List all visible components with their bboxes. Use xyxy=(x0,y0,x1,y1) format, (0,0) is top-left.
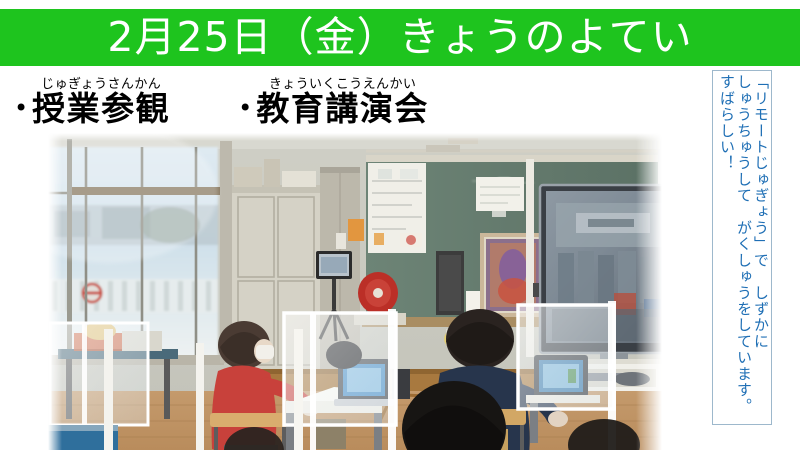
comment-box: 「リモートじゅぎょう」で しずかに しゅうちゅうして がくしゅうをしています。 … xyxy=(712,70,772,425)
list-item-jugyo-sankan: • じゅぎょうさんかん 授業参観 xyxy=(14,78,170,126)
comment-line-1: 「リモートじゅぎょう」で しずかに xyxy=(752,74,769,349)
classroom-photo-frame xyxy=(48,133,662,450)
classroom-photo xyxy=(48,133,662,450)
schedule-bullet-list: • じゅぎょうさんかん 授業参観 • きょういくこうえんかい 教育講演会 xyxy=(14,71,674,126)
title-banner: 2月25日（金）きょうのよてい xyxy=(0,9,800,66)
bullet-label-kyoiku-koenkai: 教育講演会 xyxy=(256,91,429,126)
ruby-group: じゅぎょうさんかん 授業参観 xyxy=(32,78,170,126)
bullet-dot-icon: • xyxy=(14,96,28,120)
comment-line-2: しゅうちゅうして がくしゅうをしています。 xyxy=(735,74,752,414)
bullet-dot-icon: • xyxy=(238,96,252,120)
bullet-label-jugyo-sankan: 授業参観 xyxy=(32,91,170,126)
slide-canvas: 2月25日（金）きょうのよてい • じゅぎょうさんかん 授業参観 • きょういく… xyxy=(0,0,800,450)
comment-line-3: すばらしい！ xyxy=(718,74,735,171)
comment-columns: 「リモートじゅぎょう」で しずかに しゅうちゅうして がくしゅうをしています。 … xyxy=(715,74,769,421)
page-title: 2月25日（金）きょうのよてい xyxy=(107,17,692,58)
classroom-photo-illustration xyxy=(48,133,662,450)
ruby-group: きょういくこうえんかい 教育講演会 xyxy=(256,78,429,126)
list-item-kyoiku-koenkai: • きょういくこうえんかい 教育講演会 xyxy=(238,78,429,126)
